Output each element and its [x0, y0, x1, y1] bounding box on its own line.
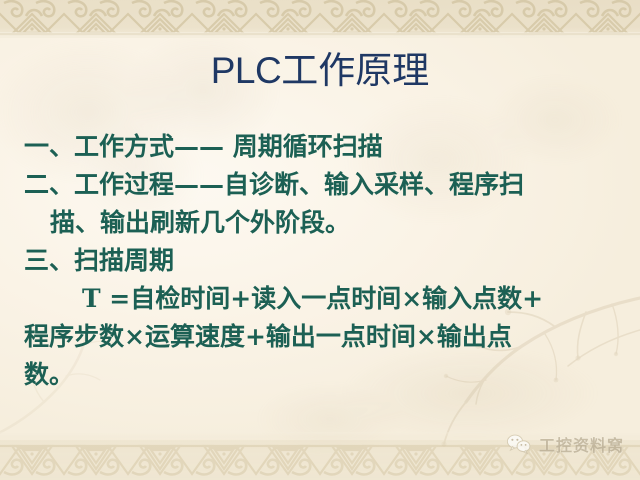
presentation-slide: PLC工作原理 一、工作方式—— 周期循环扫描 二、工作过程——自诊断、输入采样…: [0, 0, 640, 480]
body-line-4: 三、扫描周期: [24, 242, 624, 280]
brand-watermark: 工控资料窝: [506, 432, 624, 456]
slide-title: PLC工作原理: [0, 52, 640, 91]
brand-label: 工控资料窝: [539, 432, 624, 456]
body-line-5: T =自检时间+读入一点时间×输入点数+: [24, 280, 624, 318]
wechat-icon: [506, 433, 532, 455]
body-line-7: 数。: [24, 356, 624, 394]
slide-title-han: 工作原理: [281, 49, 429, 92]
body-line-2: 二、工作过程——自诊断、输入采样、程序扫: [24, 166, 624, 204]
body-line-1: 一、工作方式—— 周期循环扫描: [24, 128, 624, 166]
slide-title-latin: PLC: [211, 50, 281, 91]
body-line-6: 程序步数×运算速度+输出一点时间×输出点: [24, 318, 624, 356]
slide-body: 一、工作方式—— 周期循环扫描 二、工作过程——自诊断、输入采样、程序扫 描、输…: [24, 128, 624, 394]
body-line-3: 描、输出刷新几个外阶段。: [24, 204, 624, 242]
